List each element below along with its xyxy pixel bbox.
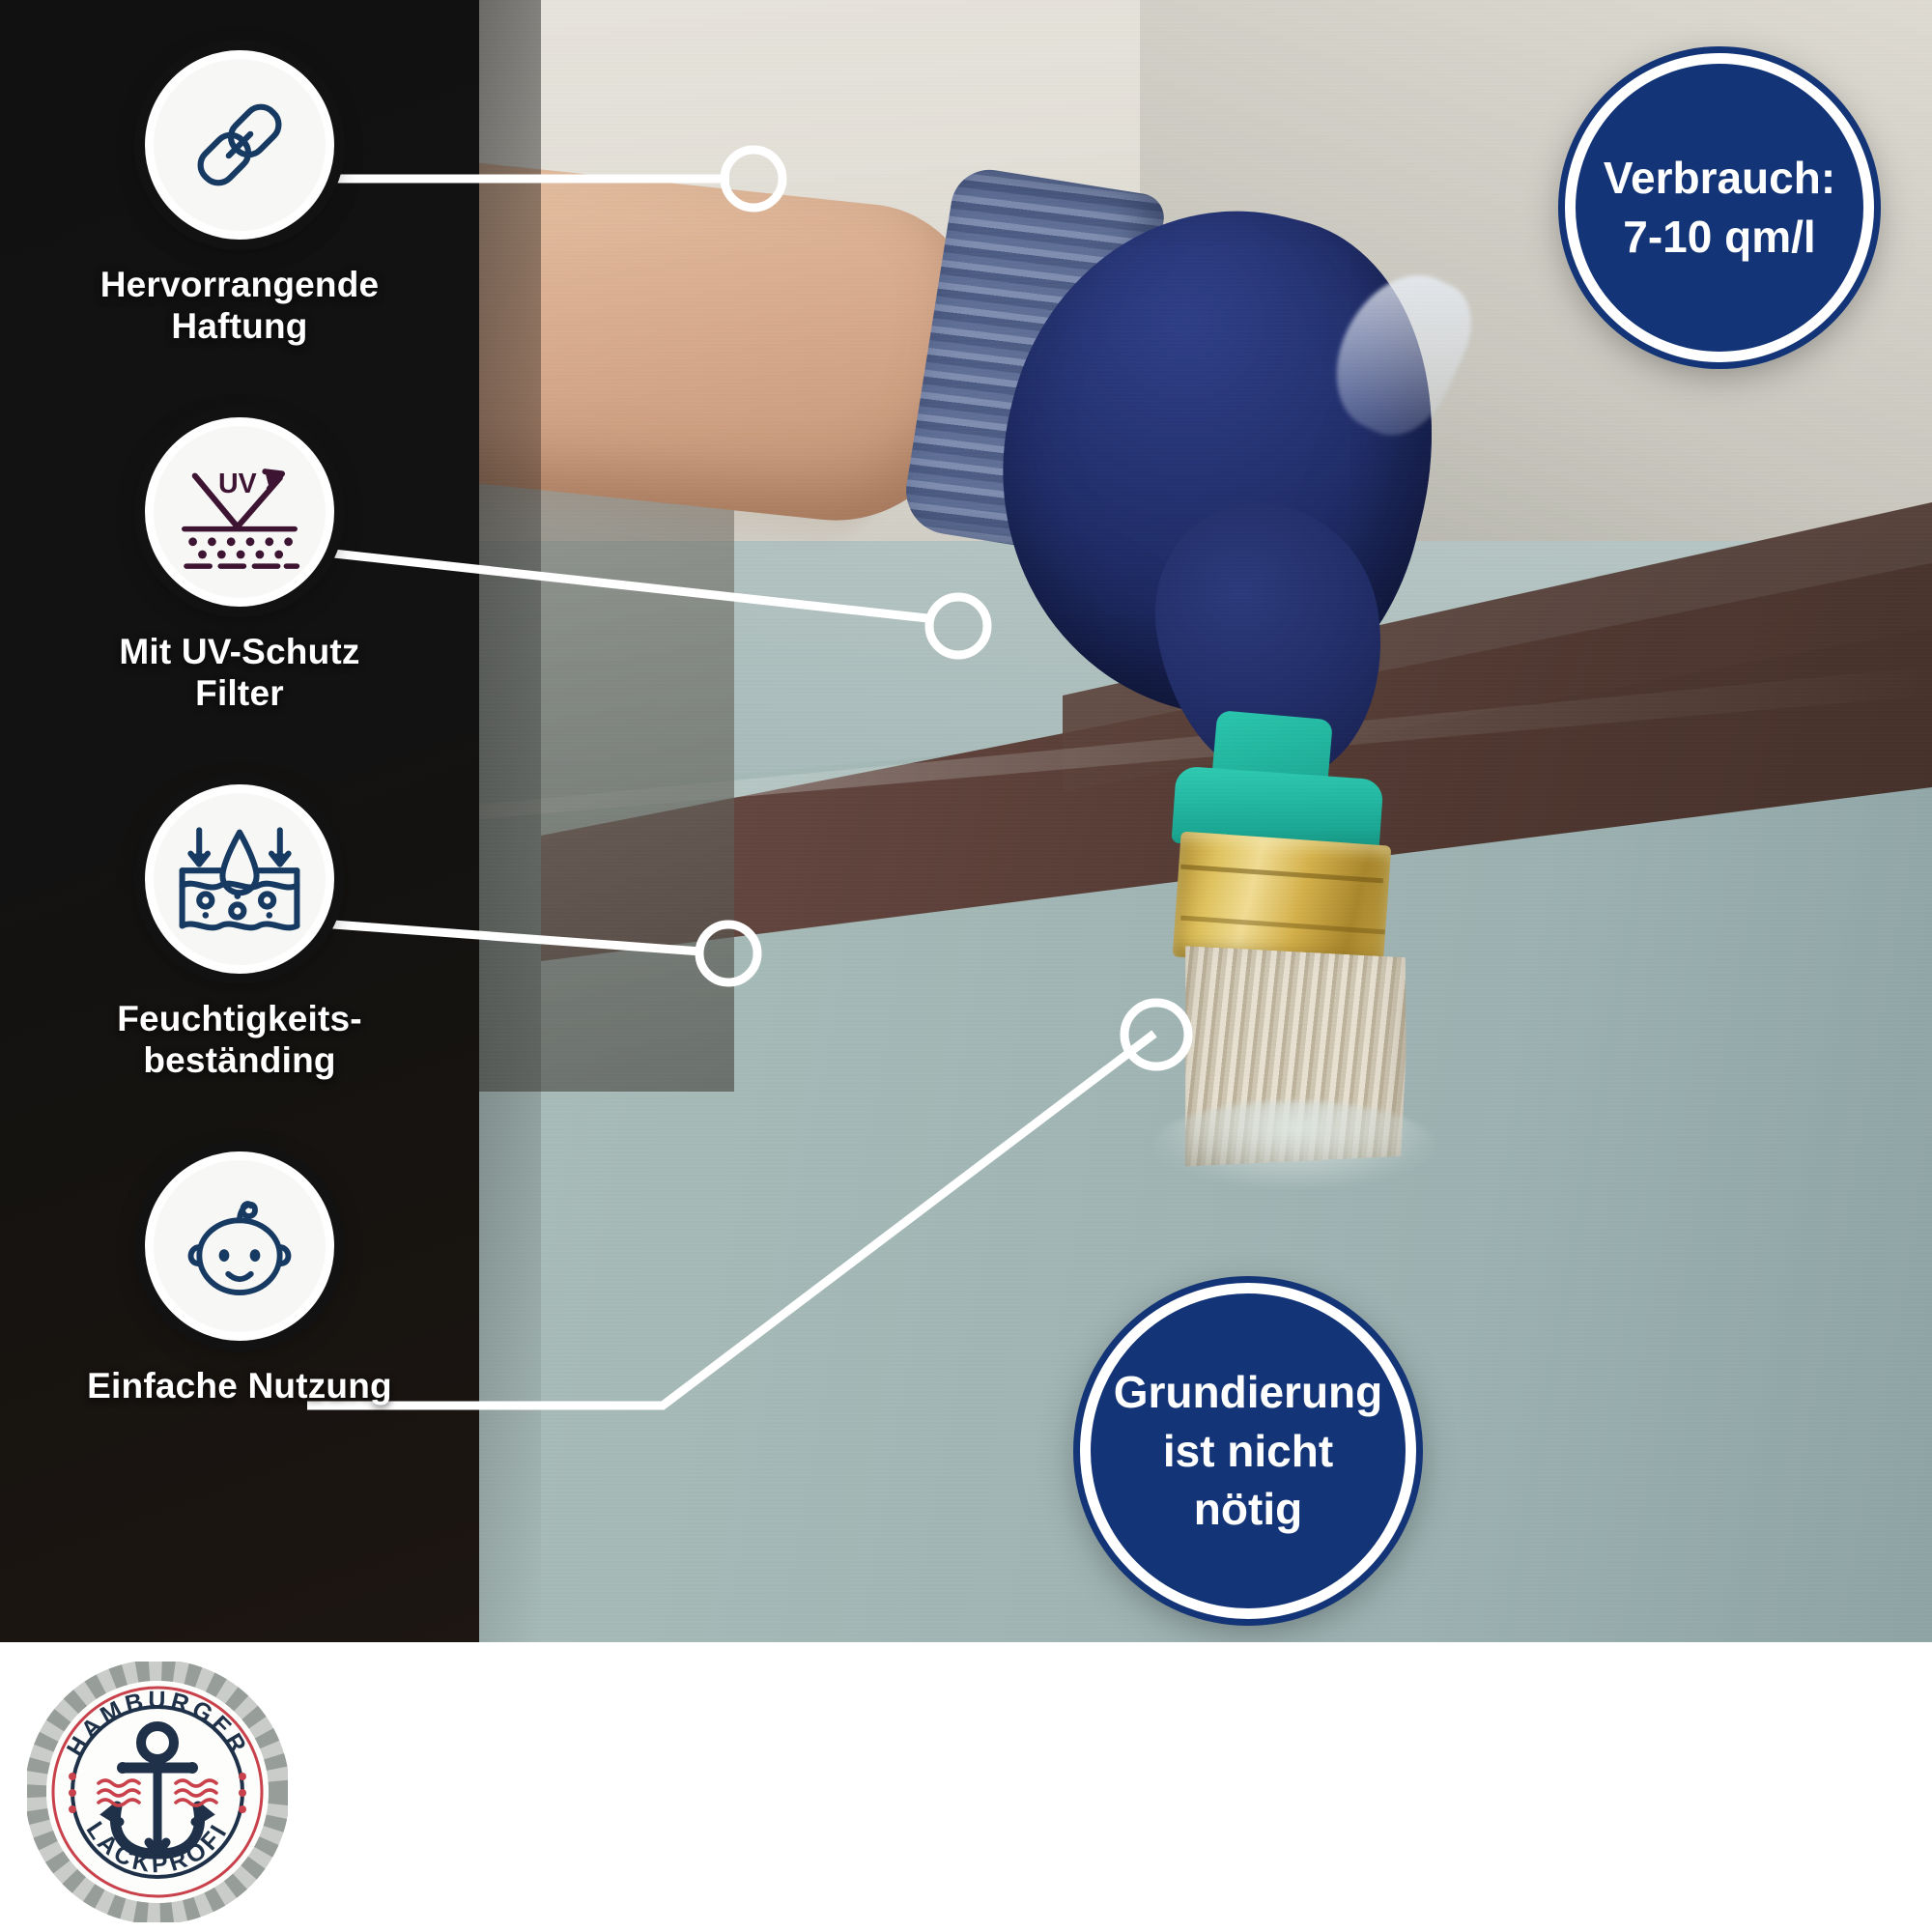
feature-label-line2: Haftung	[171, 306, 307, 346]
feature-item-adhesion[interactable]: Hervorrangende Haftung	[27, 50, 452, 348]
footer-bar: HAMBURGER LACKPROFI 1-2 Anstriche empfoh…	[0, 1642, 1932, 1932]
brand-logo[interactable]: HAMBURGER LACKPROFI	[27, 1662, 288, 1922]
baby-face-icon	[179, 1189, 300, 1303]
feature-icon-circle-adhesion	[145, 50, 334, 240]
badge-no-primer-line1: Grundierung	[1114, 1363, 1383, 1422]
feature-label-adhesion: Hervorrangende Haftung	[27, 265, 452, 348]
product-infographic: Hervorrangende Haftung UV	[0, 0, 1932, 1932]
hamburger-lackprofi-logo: HAMBURGER LACKPROFI	[27, 1662, 288, 1922]
feature-item-uv[interactable]: UV Mit UV-Schutz Filter	[27, 417, 452, 715]
badge-no-primer[interactable]: Grundierung ist nicht nötig	[1080, 1283, 1416, 1619]
feature-label-uv: Mit UV-Schutz Filter	[27, 632, 452, 715]
feature-label-line1: Feuchtigkeits-	[117, 999, 362, 1038]
feature-item-easyuse[interactable]: Einfache Nutzung	[27, 1151, 452, 1407]
feature-label-line1: Hervorrangende	[100, 265, 380, 304]
feature-icon-circle-easyuse	[145, 1151, 334, 1341]
badge-no-primer-line2: ist nicht	[1163, 1422, 1333, 1481]
feature-label-line2: Filter	[195, 673, 284, 713]
badge-consumption[interactable]: Verbrauch: 7-10 qm/l	[1565, 53, 1874, 362]
feature-label-moisture: Feuchtigkeits- beständing	[27, 999, 452, 1082]
feature-label-line1: Mit UV-Schutz	[119, 632, 359, 671]
feature-label-easyuse: Einfache Nutzung	[27, 1366, 452, 1407]
badge-consumption-line2: 7-10 qm/l	[1623, 208, 1815, 267]
feature-icon-circle-uv: UV	[145, 417, 334, 607]
chain-link-icon	[185, 91, 294, 199]
uv-protection-icon: UV	[176, 452, 303, 572]
feature-icon-circle-moisture	[145, 784, 334, 974]
badge-no-primer-line3: nötig	[1194, 1480, 1302, 1539]
svg-text:UV: UV	[218, 469, 257, 499]
feature-label-line1: Einfache Nutzung	[87, 1366, 392, 1406]
badge-consumption-line1: Verbrauch:	[1604, 149, 1835, 208]
moisture-resistant-icon	[176, 819, 303, 939]
feature-label-line2: beständing	[143, 1040, 335, 1080]
feature-item-moisture[interactable]: Feuchtigkeits- beständing	[27, 784, 452, 1082]
